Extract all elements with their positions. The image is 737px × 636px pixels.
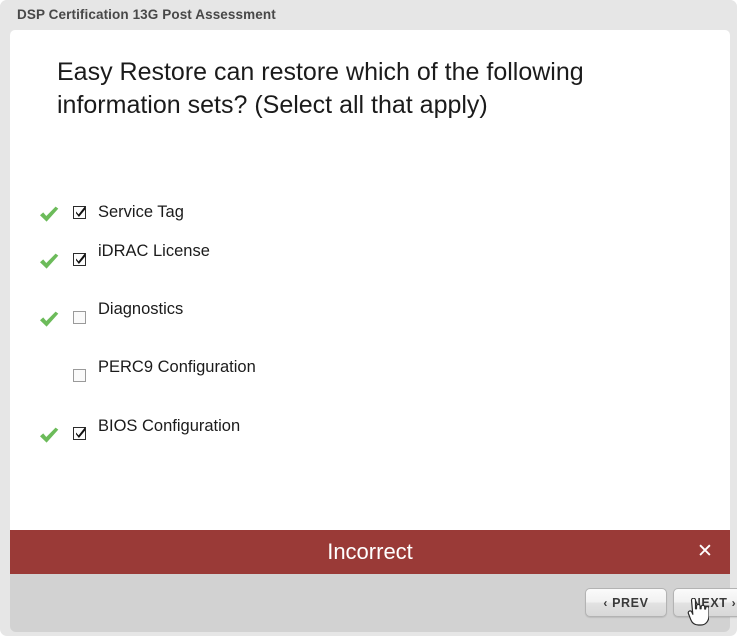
option-row-perc9-configuration[interactable]: PERC9 Configuration <box>10 357 710 397</box>
correct-answer-check-icon <box>37 249 61 273</box>
option-checkbox-bios-configuration[interactable] <box>73 427 86 440</box>
option-label-diagnostics: Diagnostics <box>98 300 183 319</box>
page-title: DSP Certification 13G Post Assessment <box>17 7 276 22</box>
option-checkbox-service-tag[interactable] <box>73 206 86 219</box>
title-bar: DSP Certification 13G Post Assessment <box>0 0 737 30</box>
next-button[interactable]: NEXT › <box>673 588 737 617</box>
close-icon[interactable]: ✕ <box>694 541 716 563</box>
option-label-service-tag: Service Tag <box>98 203 184 222</box>
quiz-window: DSP Certification 13G Post Assessment Ea… <box>0 0 737 636</box>
option-label-idrac-license: iDRAC License <box>98 242 210 261</box>
feedback-banner: Incorrect ✕ <box>10 530 730 574</box>
correct-answer-check-icon <box>37 423 61 447</box>
prev-button-label: PREV <box>612 596 648 610</box>
next-button-label: NEXT <box>692 596 728 610</box>
correct-answer-check-icon <box>37 307 61 331</box>
question-prompt: Easy Restore can restore which of the fo… <box>57 56 657 122</box>
option-row-diagnostics[interactable]: Diagnostics <box>10 299 710 339</box>
chevron-left-icon: ‹ <box>603 596 608 610</box>
option-label-perc9-configuration: PERC9 Configuration <box>98 358 256 377</box>
feedback-message: Incorrect <box>10 539 730 565</box>
chevron-right-icon: › <box>732 596 737 610</box>
option-label-bios-configuration: BIOS Configuration <box>98 417 240 436</box>
navigation-bar: ‹ PREV NEXT › <box>10 574 730 632</box>
option-row-idrac-license[interactable]: iDRAC License <box>10 241 710 281</box>
option-checkbox-diagnostics[interactable] <box>73 311 86 324</box>
question-card: Easy Restore can restore which of the fo… <box>10 30 730 530</box>
option-checkbox-perc9-configuration[interactable] <box>73 369 86 382</box>
option-row-bios-configuration[interactable]: BIOS Configuration <box>10 416 710 456</box>
option-row-service-tag[interactable]: Service Tag <box>10 202 710 242</box>
correct-answer-check-icon <box>37 202 61 226</box>
prev-button[interactable]: ‹ PREV <box>585 588 667 617</box>
option-checkbox-idrac-license[interactable] <box>73 253 86 266</box>
